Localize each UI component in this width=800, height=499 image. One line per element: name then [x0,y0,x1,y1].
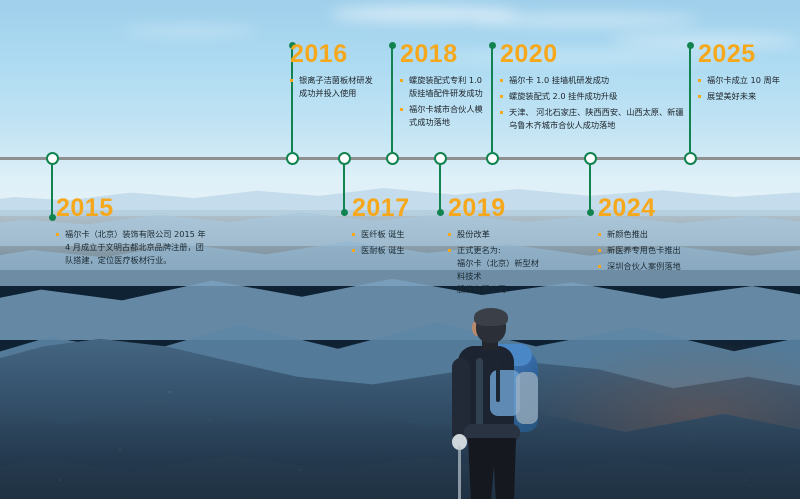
milestone-bullet: 天津、 河北石家庄、陕西西安、山西太原、新疆乌鲁木齐城市合伙人成功落地 [500,106,692,132]
milestone-bullet: 福尔卡城市合伙人模式成功落地 [400,103,496,129]
bullet-line: 螺旋装配式 2.0 挂件成功升级 [509,90,692,103]
bullet-line: 乌鲁木齐城市合伙人成功落地 [509,119,692,132]
node-ring[interactable] [486,152,499,165]
backpack-side-pocket [516,372,538,424]
trekking-pole [458,446,461,499]
milestone-bullet: 螺旋装配式专利 1.0版挂墙配件研发成功 [400,74,496,100]
milestone-year-label: 2015 [56,196,231,221]
milestone-bullet-list: 福尔卡成立 10 周年展望美好未来 [698,74,798,103]
milestone-2020: 2020福尔卡 1.0 挂墙机研发成功螺旋装配式 2.0 挂件成功升级天津、 河… [500,42,692,135]
bullet-line: 银离子洁菌板材研发 [299,74,386,87]
timeline-node-2019[interactable] [434,152,447,165]
bullet-line: 深圳合伙人案例落地 [607,260,718,273]
milestone-bullet: 新颜色推出 [598,228,718,241]
cloud-4 [120,26,260,36]
milestone-bullet-list: 医纤板 诞生医耐板 诞生 [352,228,442,257]
bullet-line: 福尔卡（北京）新型材料技术 [457,257,544,283]
bullet-line: 新颜色推出 [607,228,718,241]
node-stem [391,44,393,152]
bullet-line: 螺旋装配式专利 1.0 [409,74,496,87]
timeline-node-2017[interactable] [338,152,351,165]
timeline-node-2025[interactable] [684,152,697,165]
milestone-bullet: 医耐板 诞生 [352,244,442,257]
milestone-bullet: 深圳合伙人案例落地 [598,260,718,273]
milestone-year-label: 2016 [290,42,386,67]
milestone-bullet: 展望美好未来 [698,90,798,103]
milestone-year-label: 2017 [352,196,442,221]
hiker-hair [474,308,508,326]
timeline-node-2018[interactable] [386,152,399,165]
node-ring[interactable] [46,152,59,165]
milestone-2024: 2024新颜色推出新医养专用色卡推出深圳合伙人案例落地 [598,196,718,276]
milestone-bullet-list: 螺旋装配式专利 1.0版挂墙配件研发成功福尔卡城市合伙人模式成功落地 [400,74,496,129]
milestone-bullet: 螺旋装配式 2.0 挂件成功升级 [500,90,692,103]
milestone-bullet: 福尔卡（北京）装饰有限公司 2015 年4 月成立于文明古都北京品牌注册，团队搭… [56,228,231,267]
bullet-line: 展望美好未来 [707,90,798,103]
milestone-bullet: 福尔卡 1.0 挂墙机研发成功 [500,74,692,87]
milestone-year-label: 2024 [598,196,718,221]
node-stem [51,158,53,218]
timeline-node-2015[interactable] [46,152,59,165]
node-ring[interactable] [434,152,447,165]
bullet-line: 医纤板 诞生 [361,228,442,241]
node-ring[interactable] [286,152,299,165]
bullet-line: 成功并投入使用 [299,87,386,100]
node-ring[interactable] [584,152,597,165]
bullet-line: 股份改革 [457,228,544,241]
node-stem-tip [389,42,396,49]
bullet-line: 版挂墙配件研发成功 [409,87,496,100]
node-stem-tip [587,209,594,216]
milestone-bullet: 福尔卡成立 10 周年 [698,74,798,87]
milestone-2025: 2025福尔卡成立 10 周年展望美好未来 [698,42,798,106]
node-ring[interactable] [386,152,399,165]
milestone-bullet: 股份改革 [448,228,544,241]
bullet-line: 福尔卡 1.0 挂墙机研发成功 [509,74,692,87]
milestone-2019: 2019股份改革正式更名为:福尔卡（北京）新型材料技术股份有限公司 [448,196,544,299]
node-ring[interactable] [338,152,351,165]
milestone-year-label: 2019 [448,196,544,221]
milestone-bullet: 新医养专用色卡推出 [598,244,718,257]
timeline-infographic: 2015福尔卡（北京）装饰有限公司 2015 年4 月成立于文明古都北京品牌注册… [0,0,800,499]
bullet-line: 福尔卡成立 10 周年 [707,74,798,87]
bullet-line: 股份有限公司 [457,283,544,296]
milestone-bullet-list: 福尔卡 1.0 挂墙机研发成功螺旋装配式 2.0 挂件成功升级天津、 河北石家庄… [500,74,692,132]
milestone-2017: 2017医纤板 诞生医耐板 诞生 [352,196,442,260]
milestone-bullet: 银离子洁菌板材研发成功并投入使用 [290,74,386,100]
backpack-cord [496,362,500,402]
bullet-line: 正式更名为: [457,244,544,257]
milestone-bullet: 正式更名为:福尔卡（北京）新型材料技术股份有限公司 [448,244,544,296]
backpack-strap [476,358,483,428]
cloud-2 [470,14,700,26]
milestone-bullet-list: 新颜色推出新医养专用色卡推出深圳合伙人案例落地 [598,228,718,273]
milestone-2015: 2015福尔卡（北京）装饰有限公司 2015 年4 月成立于文明古都北京品牌注册… [56,196,231,270]
milestone-2018: 2018螺旋装配式专利 1.0版挂墙配件研发成功福尔卡城市合伙人模式成功落地 [400,42,496,132]
bullet-line: 福尔卡城市合伙人模 [409,103,496,116]
node-stem [343,158,345,213]
milestone-bullet-list: 银离子洁菌板材研发成功并投入使用 [290,74,386,100]
timeline-axis [0,157,800,160]
timeline-node-2024[interactable] [584,152,597,165]
bullet-line: 福尔卡（北京）装饰有限公司 2015 年 [65,228,231,241]
hiker-figure [430,306,560,499]
bullet-line: 队搭建，定位医疗板材行业。 [65,254,231,267]
milestone-bullet-list: 股份改革正式更名为:福尔卡（北京）新型材料技术股份有限公司 [448,228,544,296]
timeline-node-2020[interactable] [486,152,499,165]
bullet-line: 新医养专用色卡推出 [607,244,718,257]
bullet-line: 4 月成立于文明古都北京品牌注册，团 [65,241,231,254]
node-stem [589,158,591,213]
hiker-legs [468,438,516,499]
valley-texture [0,330,800,499]
bullet-line: 式成功落地 [409,116,496,129]
milestone-year-label: 2025 [698,42,798,67]
milestone-2016: 2016银离子洁菌板材研发成功并投入使用 [290,42,386,103]
node-stem-tip [341,209,348,216]
bullet-line: 天津、 河北石家庄、陕西西安、山西太原、新疆 [509,106,692,119]
milestone-bullet: 医纤板 诞生 [352,228,442,241]
milestone-year-label: 2018 [400,42,496,67]
milestone-bullet-list: 福尔卡（北京）装饰有限公司 2015 年4 月成立于文明古都北京品牌注册，团队搭… [56,228,231,267]
bullet-line: 医耐板 诞生 [361,244,442,257]
node-ring[interactable] [684,152,697,165]
node-stem-tip [49,214,56,221]
timeline-node-2016[interactable] [286,152,299,165]
milestone-year-label: 2020 [500,42,692,67]
